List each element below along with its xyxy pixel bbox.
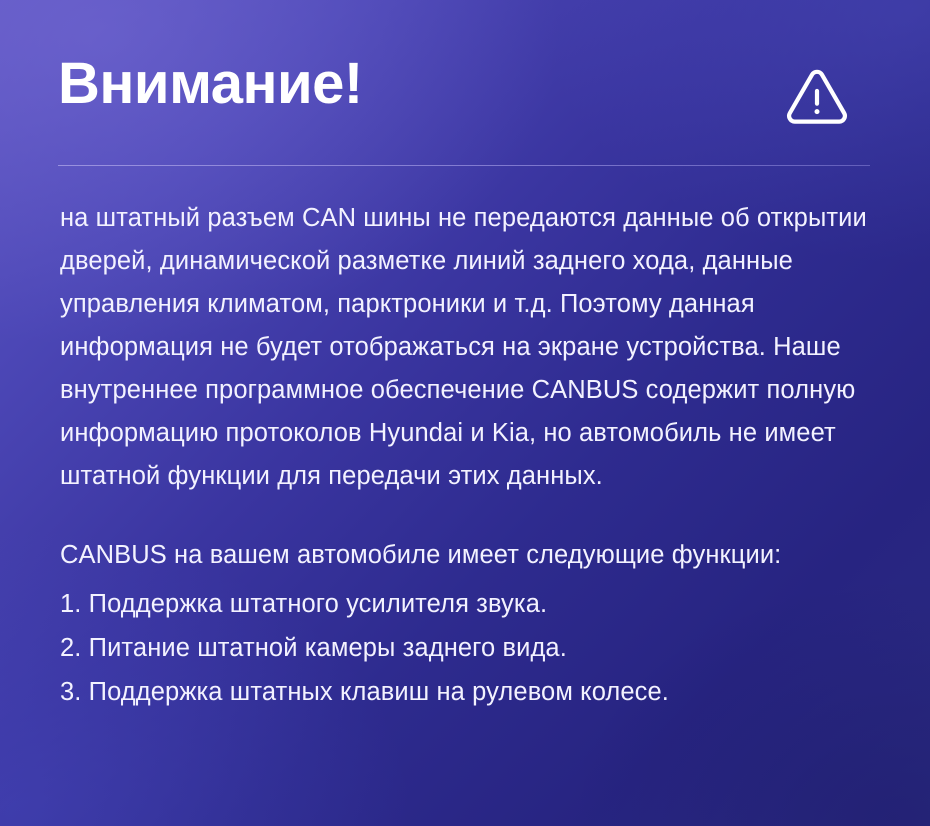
poster-content: Внимание! на штатный разъем CAN шины не … — [0, 0, 930, 714]
functions-list: 1. Поддержка штатного усилителя звука. 2… — [60, 582, 878, 714]
poster-header: Внимание! — [0, 0, 930, 132]
functions-block: CANBUS на вашем автомобиле имеет следующ… — [60, 498, 878, 714]
warning-poster: Внимание! на штатный разъем CAN шины не … — [0, 0, 930, 826]
list-item: 3. Поддержка штатных клавиш на рулевом к… — [60, 670, 878, 714]
warning-triangle-icon — [786, 69, 848, 132]
list-item: 1. Поддержка штатного усилителя звука. — [60, 582, 878, 626]
functions-intro: CANBUS на вашем автомобиле имеет следующ… — [60, 534, 878, 577]
poster-body: на штатный разъем CAN шины не передаются… — [0, 166, 930, 714]
warning-paragraph: на штатный разъем CAN шины не передаются… — [60, 166, 878, 498]
page-title: Внимание! — [58, 55, 363, 113]
list-item: 2. Питание штатной камеры заднего вида. — [60, 626, 878, 670]
